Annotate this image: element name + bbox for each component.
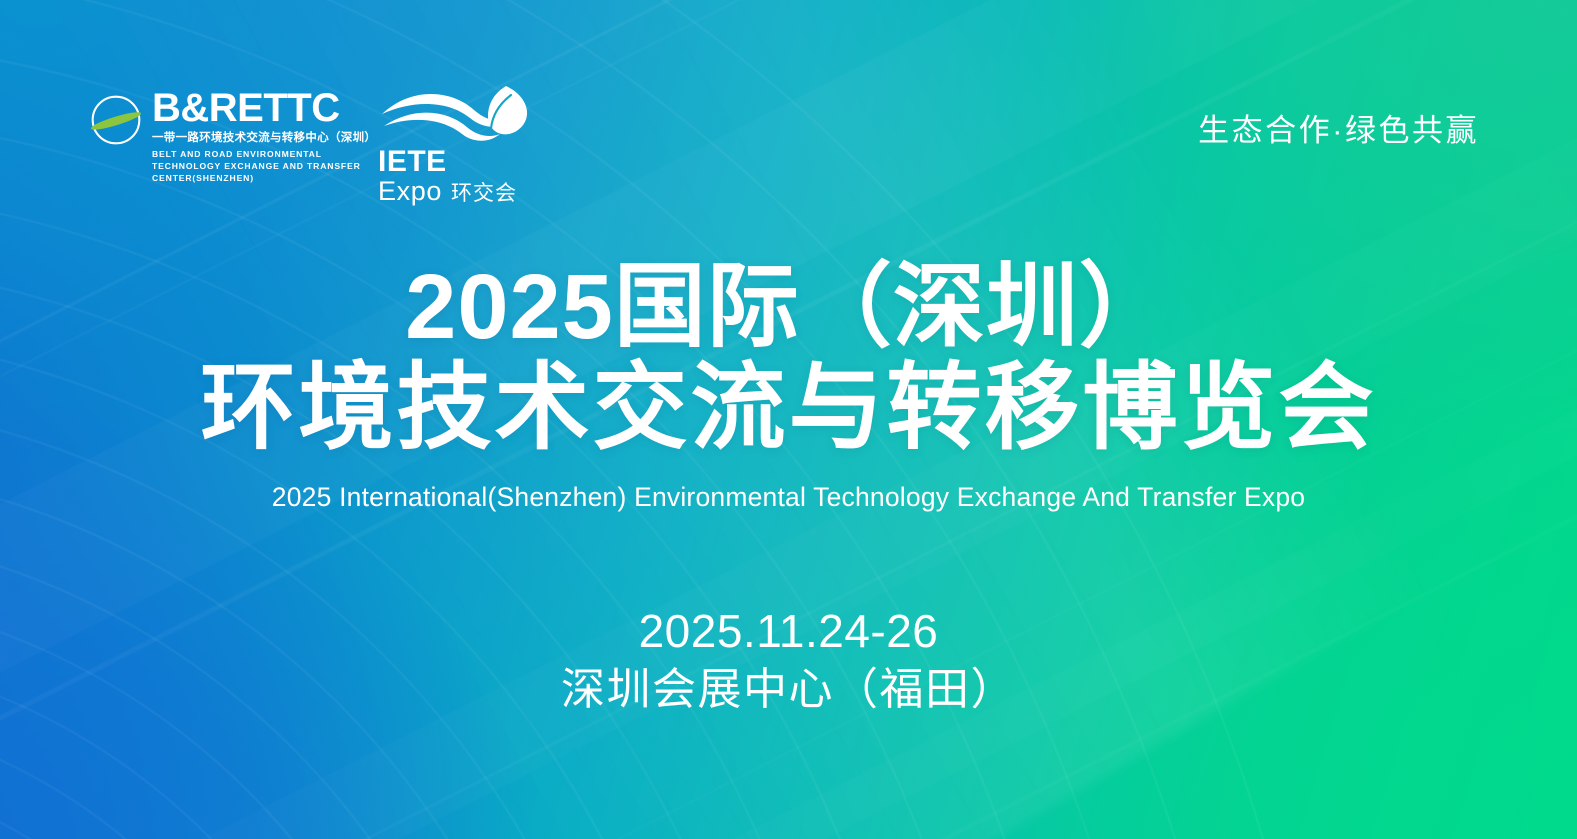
brettc-chinese-name: 一带一路环境技术交流与转移中心（深圳）	[152, 131, 376, 147]
event-info-block: 2025.11.24-26 深圳会展中心（福田）	[0, 604, 1577, 717]
event-banner: B&RETTC 一带一路环境技术交流与转移中心（深圳） BELT AND ROA…	[0, 0, 1577, 839]
iete-wordmark: IETE	[378, 148, 548, 177]
brettc-english-line-1: BELT AND ROAD ENVIRONMENTAL	[152, 148, 376, 160]
logo-brettc[interactable]: B&RETTC 一带一路环境技术交流与转移中心（深圳） BELT AND ROA…	[88, 88, 376, 184]
page-title-line-2: 环境技术交流与转移博览会	[0, 355, 1577, 461]
globe-ring-icon	[88, 92, 144, 148]
leaf-wave-icon	[378, 84, 538, 146]
banner-header: B&RETTC 一带一路环境技术交流与转移中心（深圳） BELT AND ROA…	[0, 0, 1577, 210]
banner-title-block: 2025国际（深圳） 环境技术交流与转移博览会 2025 Internation…	[0, 258, 1577, 514]
event-venue: 深圳会展中心（福田）	[0, 664, 1577, 717]
brettc-english-line-3: CENTER(SHENZHEN)	[152, 172, 376, 184]
page-subtitle-english: 2025 International(Shenzhen) Environment…	[0, 482, 1577, 514]
iete-expo-label: Expo	[378, 178, 442, 205]
iete-chinese-label: 环交会	[451, 183, 517, 204]
brettc-english-line-2: TECHNOLOGY EXCHANGE AND TRANSFER	[152, 160, 376, 172]
event-date: 2025.11.24-26	[0, 604, 1577, 658]
brettc-wordmark: B&RETTC	[152, 88, 376, 128]
logo-iete-expo[interactable]: IETE Expo 环交会	[378, 84, 548, 205]
event-slogan: 生态合作·绿色共赢	[1198, 105, 1479, 150]
page-title-line-1: 2025国际（深圳）	[0, 258, 1577, 357]
